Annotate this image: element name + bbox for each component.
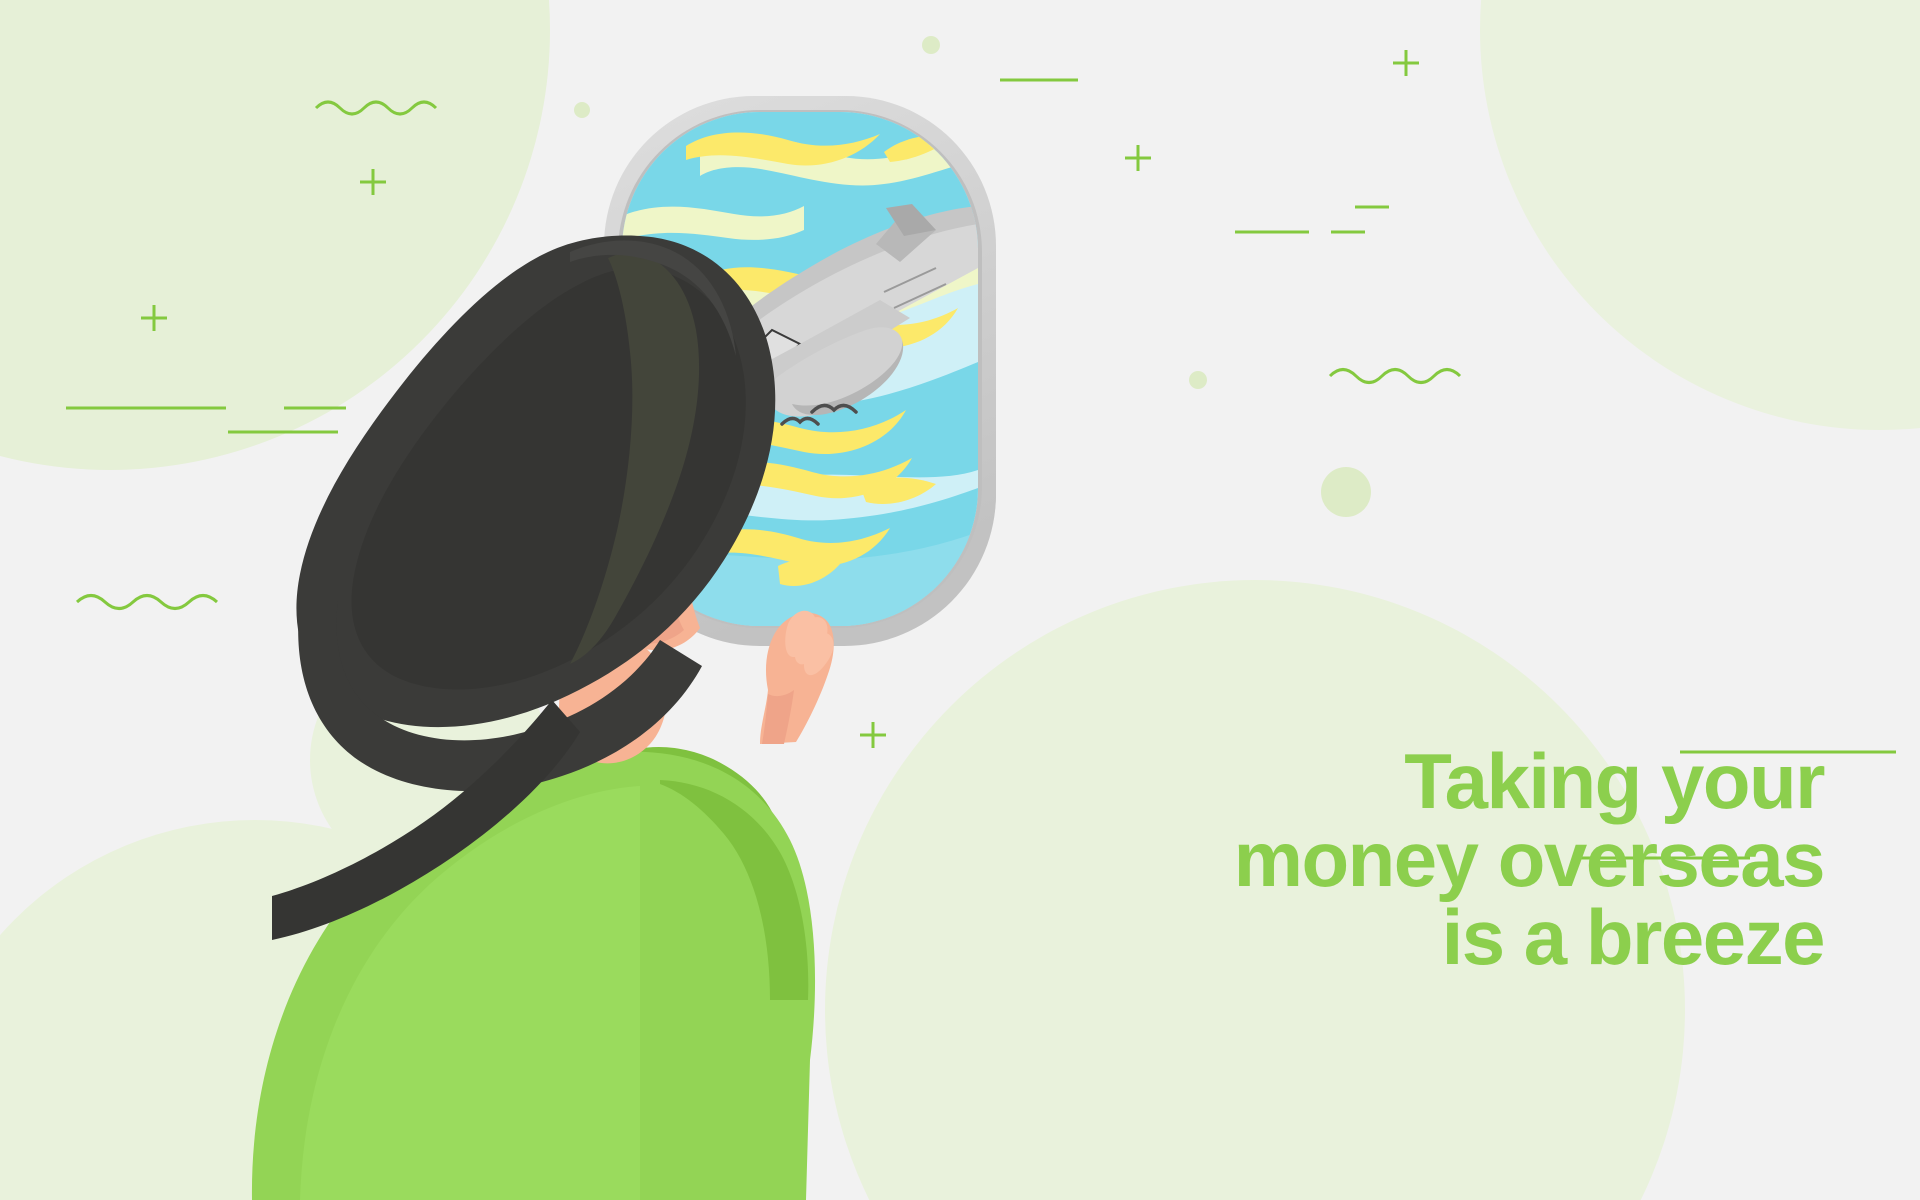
headline-line-1: Taking your — [1404, 742, 1824, 820]
hero-illustration — [0, 0, 1920, 1200]
headline-line-3: is a breeze — [1442, 898, 1824, 976]
dot-top-left — [574, 102, 590, 118]
illustration-canvas: Taking your money overseas is a breeze — [0, 0, 1920, 1200]
dot-right-large — [1321, 467, 1371, 517]
dot-top-center — [922, 36, 940, 54]
headline-line-2: money overseas — [1234, 820, 1824, 898]
dot-right — [1189, 371, 1207, 389]
